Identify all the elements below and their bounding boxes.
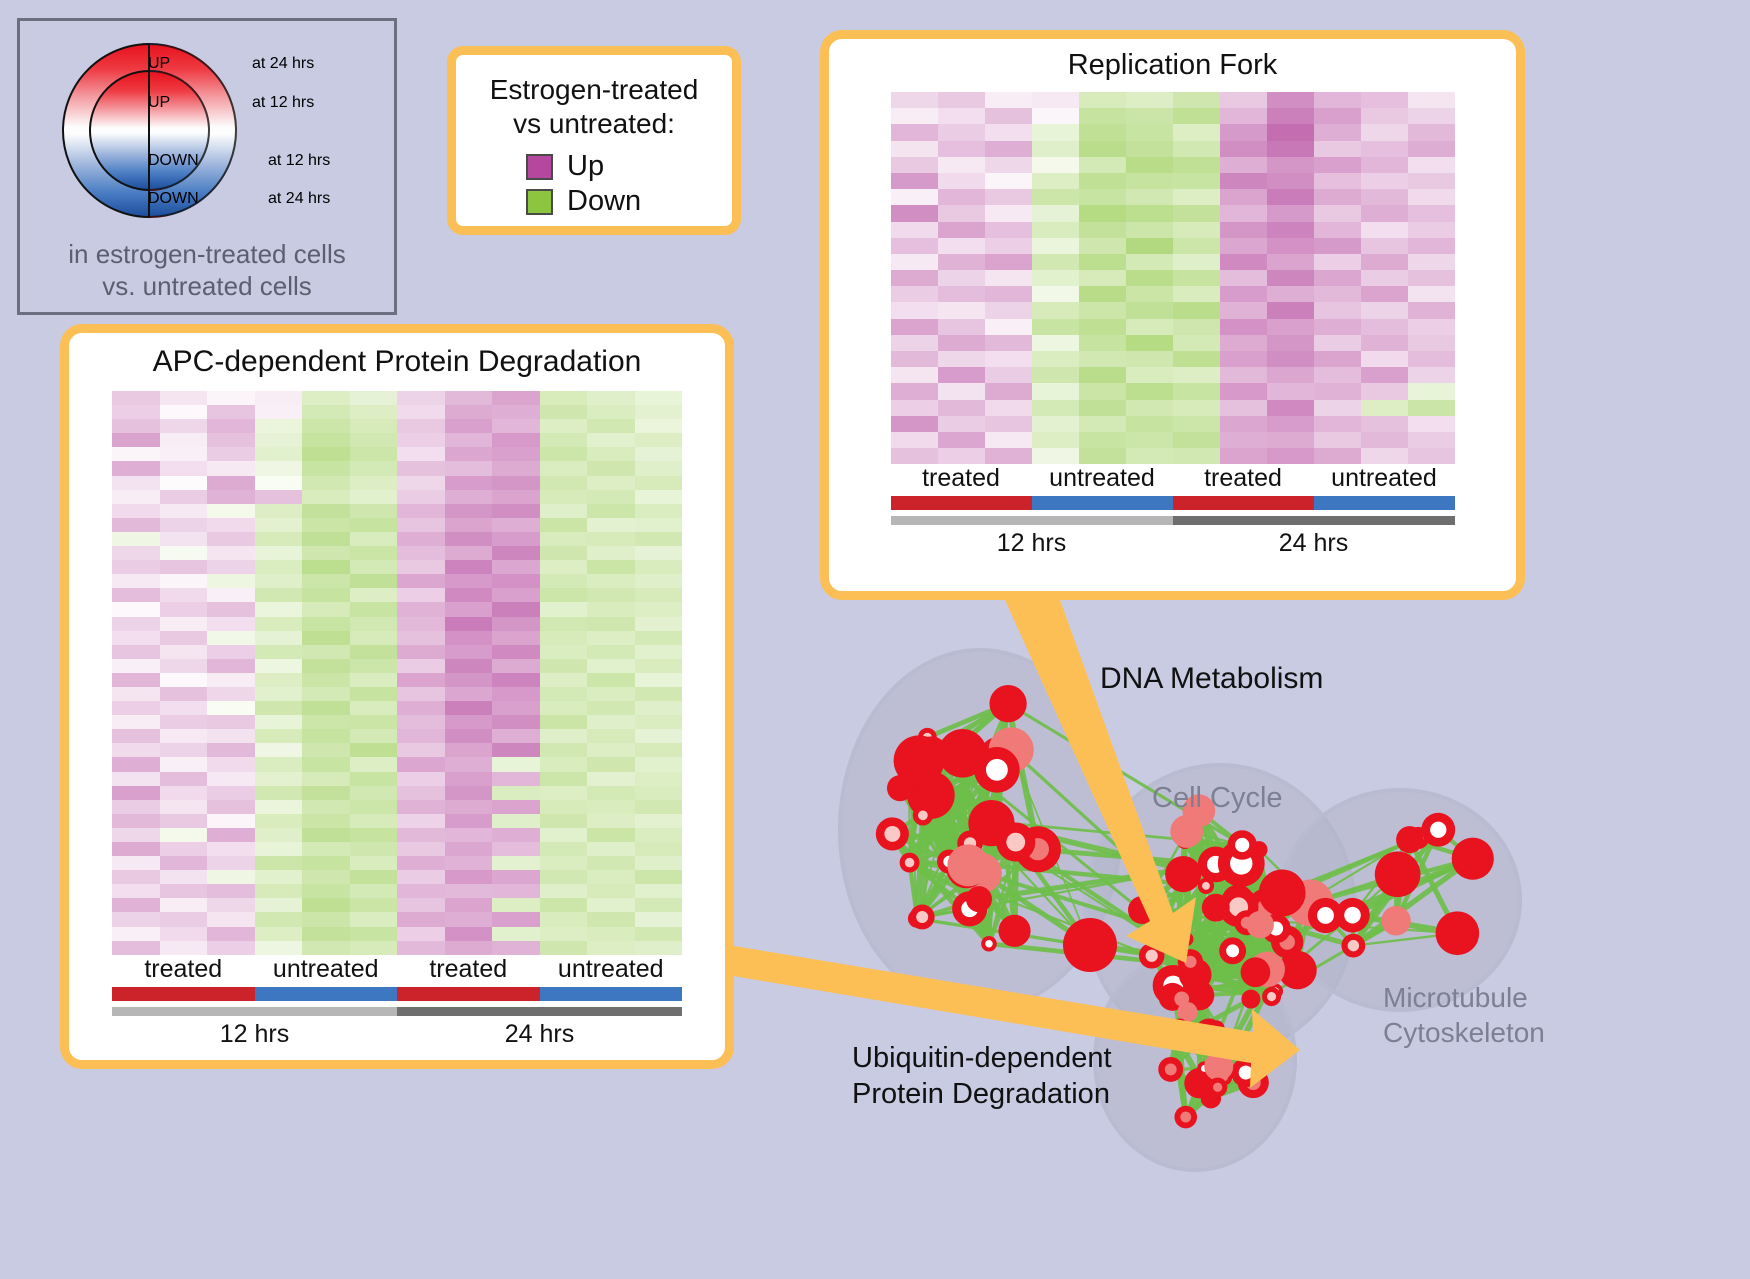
heatmap-cell	[1361, 448, 1408, 464]
heatmap-cell	[255, 433, 303, 447]
heatmap-cell	[1220, 448, 1267, 464]
heatmap-cell	[112, 504, 160, 518]
heatmap-cell	[635, 405, 683, 419]
heatmap-cell	[112, 518, 160, 532]
heatmap-cell	[302, 814, 350, 828]
heatmap-cell	[112, 560, 160, 574]
heatmap-cell	[1314, 302, 1361, 318]
heatmap-cell	[1314, 335, 1361, 351]
network-node	[1246, 911, 1274, 939]
heatmap-cell	[938, 302, 985, 318]
heatmap-cell	[540, 715, 588, 729]
heatmap-cell	[1126, 351, 1173, 367]
heatmap-cell	[587, 659, 635, 673]
heatmap-cell	[445, 856, 493, 870]
heatmap-cell	[302, 729, 350, 743]
heatmap-cell	[350, 884, 398, 898]
heatmap-cell	[1314, 222, 1361, 238]
heatmap-cell	[1173, 432, 1220, 448]
heatmap-cell	[1267, 157, 1314, 173]
heatmap-cell	[1220, 286, 1267, 302]
heatmap-cell	[1032, 92, 1079, 108]
heatmap-cell	[1079, 205, 1126, 221]
heatmap-cell	[1032, 383, 1079, 399]
heatmap-cell	[938, 92, 985, 108]
heatmap-cell	[112, 941, 160, 955]
heatmap-cell	[492, 504, 540, 518]
heatmap-cell	[1126, 335, 1173, 351]
heatmap-cell	[1267, 367, 1314, 383]
heatmap-cell	[397, 574, 445, 588]
heatmap-cell	[1126, 286, 1173, 302]
heatmap-cell	[938, 189, 985, 205]
heatmap-cell	[207, 546, 255, 560]
heatmap-cell	[492, 941, 540, 955]
heatmap-cell	[255, 772, 303, 786]
heatmap-cell	[397, 828, 445, 842]
heatmap-cell	[635, 870, 683, 884]
heatmap-cell	[635, 912, 683, 926]
network-node-core	[1348, 940, 1359, 951]
heatmap-cell	[938, 108, 985, 124]
heatmap-cell	[397, 800, 445, 814]
heatmap-cell	[985, 270, 1032, 286]
heatmap-cell	[985, 124, 1032, 140]
heatmap-cell	[397, 447, 445, 461]
heatmap-cell	[587, 898, 635, 912]
heatmap-cell	[1126, 448, 1173, 464]
heatmap-cell	[112, 433, 160, 447]
heatmap-cell	[160, 927, 208, 941]
up-color-swatch	[526, 154, 553, 180]
heatmap-cell	[938, 205, 985, 221]
heatmap-cell	[1361, 108, 1408, 124]
heatmap-cell	[1408, 157, 1455, 173]
heatmap-cell	[350, 645, 398, 659]
heatmap-cell	[397, 772, 445, 786]
heatmap-cell	[255, 856, 303, 870]
heatmap-cell	[350, 786, 398, 800]
heatmap-cell	[350, 828, 398, 842]
heatmap-cell	[1173, 92, 1220, 108]
heatmap-cell	[1267, 400, 1314, 416]
heatmap-cell	[635, 532, 683, 546]
heatmap-cell	[445, 884, 493, 898]
heatmap-cell	[1361, 270, 1408, 286]
heatmap-cell	[1408, 92, 1455, 108]
axis-replication-fork: treateduntreatedtreateduntreated 12 hrs2…	[891, 464, 1455, 558]
heatmap-cell	[160, 617, 208, 631]
heatmap-cell	[492, 405, 540, 419]
heatmap-cell	[302, 743, 350, 757]
network-node	[917, 769, 931, 783]
heatmap-cell	[350, 870, 398, 884]
heatmap-cell	[302, 391, 350, 405]
heatmap-cell	[587, 856, 635, 870]
heatmap-cell	[207, 631, 255, 645]
network-node	[1063, 918, 1117, 972]
heatmap-cell	[1032, 141, 1079, 157]
heatmap-cell	[207, 701, 255, 715]
time-label: 24 hrs	[1173, 529, 1455, 558]
heatmap-cell	[635, 729, 683, 743]
heatmap-cell	[540, 814, 588, 828]
heatmap-cell	[350, 588, 398, 602]
heatmap-cell	[445, 504, 493, 518]
heatmap-cell	[985, 238, 1032, 254]
time-color-bar	[1173, 516, 1455, 525]
heatmap-cell	[255, 870, 303, 884]
heatmap-cell	[1173, 286, 1220, 302]
heatmap-cell	[587, 729, 635, 743]
heatmap-cell	[255, 476, 303, 490]
heatmap-cell	[1126, 157, 1173, 173]
heatmap-cell	[160, 419, 208, 433]
heatmap-cell	[587, 687, 635, 701]
heatmap-cell	[938, 238, 985, 254]
heatmap-cell	[1126, 189, 1173, 205]
heatmap-cell	[160, 518, 208, 532]
heatmap-cell	[207, 870, 255, 884]
heatmap-cell	[160, 391, 208, 405]
heatmap-cell	[255, 927, 303, 941]
heatmap-cell	[397, 757, 445, 771]
heatmap-cell	[160, 842, 208, 856]
heatmap-cell	[445, 786, 493, 800]
heatmap-cell	[445, 461, 493, 475]
heatmap-cell	[1126, 238, 1173, 254]
heatmap-cell	[1126, 400, 1173, 416]
heatmap-cell	[891, 157, 938, 173]
heatmap-cell	[445, 602, 493, 616]
heatmap-cell	[891, 222, 938, 238]
heatmap-cell	[445, 800, 493, 814]
heatmap-cell	[1173, 319, 1220, 335]
heatmap-cell	[540, 786, 588, 800]
heatmap-cell	[1361, 432, 1408, 448]
heatmap-cell	[635, 659, 683, 673]
heatmap-cell	[350, 447, 398, 461]
heatmap-cell	[160, 800, 208, 814]
microtubule-line-2: Cytoskeleton	[1383, 1015, 1545, 1050]
heatmap-cell	[1314, 205, 1361, 221]
heatmap-cell	[445, 574, 493, 588]
heatmap-cell	[1267, 189, 1314, 205]
heatmap-replication-fork	[891, 92, 1455, 464]
heatmap-cell	[207, 433, 255, 447]
heatmap-cell	[587, 461, 635, 475]
heatmap-cell	[891, 416, 938, 432]
cluster-label-dna-metabolism: DNA Metabolism	[1100, 662, 1323, 696]
heatmap-cell	[540, 433, 588, 447]
heatmap-cell	[255, 884, 303, 898]
heatmap-cell	[1314, 367, 1361, 383]
heatmap-cell	[1408, 124, 1455, 140]
heatmap-cell	[985, 189, 1032, 205]
heatmap-cell	[445, 743, 493, 757]
heatmap-cell	[635, 546, 683, 560]
heatmap-cell	[112, 673, 160, 687]
heatmap-cell	[1079, 108, 1126, 124]
heatmap-cell	[1079, 335, 1126, 351]
network-node-core	[1344, 907, 1361, 924]
heatmap-cell	[160, 828, 208, 842]
network-node-core	[1235, 838, 1249, 852]
heatmap-cell	[1314, 141, 1361, 157]
heatmap-cell	[938, 335, 985, 351]
heatmap-cell	[1079, 238, 1126, 254]
heatmap-cell	[255, 814, 303, 828]
heatmap-cell	[492, 490, 540, 504]
heatmap-cell	[635, 884, 683, 898]
heatmap-cell	[302, 898, 350, 912]
heatmap-cell	[302, 602, 350, 616]
heatmap-cell	[985, 302, 1032, 318]
heatmap-cell	[112, 546, 160, 560]
figure-canvas: UP at 24 hrs UP at 12 hrs DOWN at 12 hrs…	[0, 0, 1750, 1279]
heatmap-cell	[350, 504, 398, 518]
heatmap-cell	[160, 433, 208, 447]
heatmap-cell	[112, 814, 160, 828]
heatmap-cell	[492, 856, 540, 870]
heatmap-cell	[1079, 319, 1126, 335]
heatmap-cell	[492, 617, 540, 631]
heatmap-cell	[635, 602, 683, 616]
heatmap-cell	[207, 490, 255, 504]
heatmap-cell	[540, 588, 588, 602]
condition-label: treated	[1173, 464, 1314, 493]
heatmap-cell	[397, 532, 445, 546]
heatmap-cell	[635, 447, 683, 461]
heatmap-cell	[1032, 400, 1079, 416]
heatmap-cell	[1126, 302, 1173, 318]
heatmap-cell	[255, 461, 303, 475]
heatmap-cell	[1032, 302, 1079, 318]
panel-apc-degradation: APC-dependent Protein Degradation treate…	[60, 324, 734, 1069]
pathway-network-graph	[790, 610, 1750, 1279]
heatmap-cell	[160, 673, 208, 687]
network-node-core	[1184, 956, 1196, 968]
heatmap-cell	[1408, 335, 1455, 351]
heatmap-cell	[891, 432, 938, 448]
heatmap-cell	[635, 560, 683, 574]
heatmap-cell	[587, 602, 635, 616]
heatmap-cell	[445, 673, 493, 687]
heatmap-cell	[112, 645, 160, 659]
heatmap-cell	[302, 419, 350, 433]
heatmap-cell	[587, 447, 635, 461]
heatmap-cell	[160, 645, 208, 659]
heatmap-cell	[1314, 286, 1361, 302]
heatmap-cell	[160, 772, 208, 786]
heatmap-cell	[1220, 367, 1267, 383]
heatmap-cell	[1126, 383, 1173, 399]
heatmap-cell	[350, 405, 398, 419]
heatmap-cell	[1361, 367, 1408, 383]
heatmap-cell	[1173, 335, 1220, 351]
condition-color-bar	[1173, 496, 1314, 510]
heatmap-cell	[1267, 173, 1314, 189]
heatmap-cell	[255, 391, 303, 405]
network-node	[1165, 856, 1201, 892]
heatmap-cell	[112, 743, 160, 757]
network-node	[1170, 815, 1203, 848]
heatmap-cell	[397, 504, 445, 518]
heatmap-cell	[540, 884, 588, 898]
heatmap-cell	[1314, 108, 1361, 124]
heatmap-cell	[160, 729, 208, 743]
heatmap-cell	[492, 645, 540, 659]
heatmap-cell	[207, 659, 255, 673]
heatmap-cell	[160, 786, 208, 800]
condition-color-bar	[112, 987, 255, 1001]
heatmap-cell	[350, 433, 398, 447]
heatmap-cell	[635, 927, 683, 941]
network-node	[989, 685, 1026, 722]
heatmap-cell	[587, 617, 635, 631]
heatmap-cell	[1361, 335, 1408, 351]
heatmap-cell	[1220, 416, 1267, 432]
heatmap-cell	[112, 898, 160, 912]
heatmap-cell	[635, 856, 683, 870]
heatmap-cell	[1314, 448, 1361, 464]
heatmap-cell	[635, 898, 683, 912]
heatmap-cell	[587, 884, 635, 898]
heatmap-cell	[587, 828, 635, 842]
heatmap-cell	[160, 757, 208, 771]
caption-line-2: vs. untreated cells	[20, 271, 394, 303]
heatmap-cell	[255, 532, 303, 546]
heatmap-cell	[255, 786, 303, 800]
ubiquitin-line-1: Ubiquitin-dependent	[852, 1040, 1112, 1076]
panel-title-apc: APC-dependent Protein Degradation	[69, 345, 725, 379]
heatmap-cell	[302, 927, 350, 941]
heatmap-cell	[492, 560, 540, 574]
heatmap-cell	[302, 941, 350, 955]
gradient-legend-panel: UP at 24 hrs UP at 12 hrs DOWN at 12 hrs…	[17, 18, 397, 315]
heatmap-cell	[1220, 189, 1267, 205]
heatmap-cell	[985, 367, 1032, 383]
heatmap-cell	[1079, 222, 1126, 238]
heatmap-cell	[635, 786, 683, 800]
heatmap-cell	[207, 617, 255, 631]
heatmap-cell	[587, 870, 635, 884]
condition-label: untreated	[1032, 464, 1173, 493]
heatmap-cell	[397, 842, 445, 856]
heatmap-cell	[587, 476, 635, 490]
heatmap-cell	[1079, 383, 1126, 399]
network-node-core	[1165, 1063, 1177, 1075]
heatmap-cell	[891, 319, 938, 335]
network-node	[1381, 906, 1410, 935]
heatmap-cell	[635, 617, 683, 631]
heatmap-cell	[635, 476, 683, 490]
legend-title-line-2: vs untreated:	[466, 107, 722, 141]
heatmap-cell	[1032, 157, 1079, 173]
heatmap-cell	[350, 490, 398, 504]
heatmap-cell	[350, 729, 398, 743]
heatmap-cell	[1314, 319, 1361, 335]
heatmap-cell	[255, 546, 303, 560]
heatmap-cell	[160, 546, 208, 560]
heatmap-cell	[1408, 367, 1455, 383]
heatmap-cell	[160, 476, 208, 490]
heatmap-cell	[255, 912, 303, 926]
heatmap-cell	[1173, 416, 1220, 432]
heatmap-cell	[302, 461, 350, 475]
condition-label: untreated	[255, 955, 398, 984]
heatmap-cell	[1173, 254, 1220, 270]
heatmap-cell	[540, 757, 588, 771]
heatmap-cell	[492, 687, 540, 701]
heatmap-cell	[985, 173, 1032, 189]
heatmap-cell	[985, 383, 1032, 399]
heatmap-cell	[587, 701, 635, 715]
network-node-core	[916, 911, 928, 923]
network-node	[1174, 991, 1189, 1006]
heatmap-cell	[255, 828, 303, 842]
cluster-label-ubiquitin-degradation: Ubiquitin-dependent Protein Degradation	[852, 1040, 1112, 1113]
heatmap-cell	[1267, 416, 1314, 432]
heatmap-cell	[397, 617, 445, 631]
heatmap-cell	[350, 476, 398, 490]
heatmap-cell	[255, 588, 303, 602]
heatmap-cell	[492, 447, 540, 461]
heatmap-cell	[587, 912, 635, 926]
heatmap-cell	[445, 391, 493, 405]
heatmap-cell	[891, 254, 938, 270]
heatmap-cell	[540, 701, 588, 715]
heatmap-cell	[492, 927, 540, 941]
heatmap-cell	[540, 729, 588, 743]
heatmap-cell	[492, 912, 540, 926]
heatmap-cell	[635, 772, 683, 786]
heatmap-cell	[255, 617, 303, 631]
heatmap-cell	[891, 351, 938, 367]
heatmap-cell	[1361, 238, 1408, 254]
heatmap-cell	[255, 405, 303, 419]
heatmap-cell	[445, 870, 493, 884]
heatmap-cell	[397, 743, 445, 757]
heatmap-cell	[1314, 238, 1361, 254]
heatmap-cell	[635, 743, 683, 757]
heatmap-cell	[1126, 270, 1173, 286]
heatmap-cell	[397, 461, 445, 475]
heatmap-cell	[938, 173, 985, 189]
heatmap-cell	[207, 476, 255, 490]
heatmap-cell	[492, 673, 540, 687]
heatmap-cell	[160, 560, 208, 574]
heatmap-cell	[1032, 270, 1079, 286]
heatmap-cell	[635, 814, 683, 828]
heatmap-cell	[1408, 108, 1455, 124]
panel-replication-fork: Replication Fork treateduntreatedtreated…	[820, 30, 1525, 600]
heatmap-cell	[587, 405, 635, 419]
heatmap-cell	[112, 631, 160, 645]
heatmap-cell	[445, 912, 493, 926]
heatmap-cell	[540, 673, 588, 687]
heatmap-cell	[1361, 205, 1408, 221]
time-color-bar	[397, 1007, 682, 1016]
heatmap-cell	[1079, 432, 1126, 448]
heatmap-cell	[397, 870, 445, 884]
panel-title-replication-fork: Replication Fork	[829, 49, 1516, 82]
heatmap-cell	[112, 461, 160, 475]
network-node-core	[1183, 936, 1190, 943]
heatmap-cell	[302, 476, 350, 490]
heatmap-cell	[1267, 448, 1314, 464]
heatmap-cell	[445, 941, 493, 955]
